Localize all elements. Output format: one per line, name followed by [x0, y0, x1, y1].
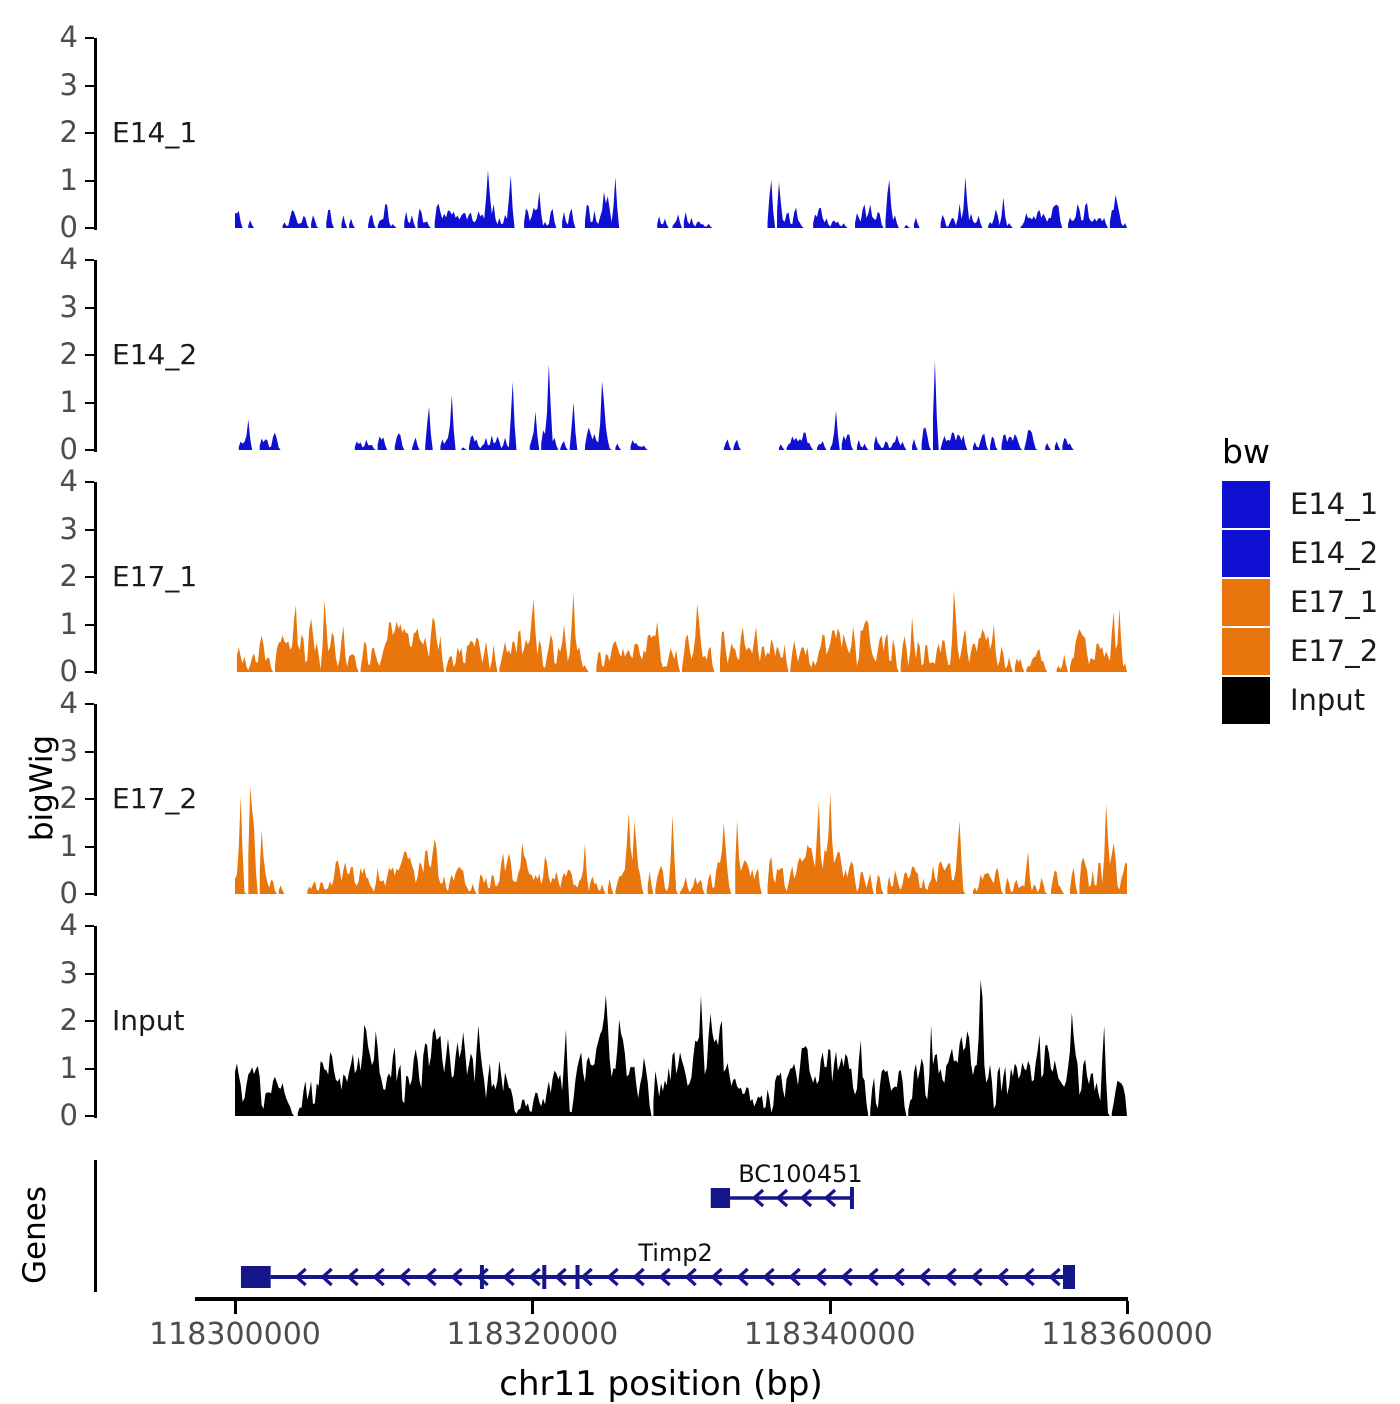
gene-model-timp2[interactable]	[241, 1265, 1075, 1289]
y-tick-label: 2	[28, 784, 78, 813]
y-tick	[85, 973, 94, 975]
coverage-area-input	[0, 0, 1400, 1400]
y-axis-line	[94, 38, 97, 230]
gene-model-bc100451[interactable]	[711, 1187, 852, 1209]
y-tick-label: 4	[28, 689, 78, 718]
y-tick-label: 4	[28, 245, 78, 274]
x-tick	[1126, 1301, 1129, 1314]
y-tick	[85, 703, 94, 705]
legend-label: E17_1	[1290, 585, 1378, 619]
coverage-area-e14_2	[0, 0, 1400, 1400]
y-tick	[85, 481, 94, 483]
y-tick	[85, 671, 94, 673]
y-tick-label: 3	[28, 959, 78, 988]
y-tick-label: 0	[28, 435, 78, 464]
y-tick-label: 3	[28, 737, 78, 766]
x-tick	[234, 1301, 237, 1314]
gene-label-bc100451: BC100451	[738, 1160, 862, 1188]
y-tick-label: 0	[28, 213, 78, 242]
y-tick	[85, 576, 94, 578]
y-tick-label: 0	[28, 879, 78, 908]
x-tick-label: 118320000	[402, 1317, 662, 1352]
legend-label: E14_1	[1290, 487, 1378, 521]
y-tick-label: 0	[28, 657, 78, 686]
track-label-e14_1: E14_1	[112, 116, 197, 149]
y-tick-label: 4	[28, 911, 78, 940]
y-tick	[85, 402, 94, 404]
y-tick	[85, 846, 94, 848]
track-label-e14_2: E14_2	[112, 338, 197, 371]
legend-title: bw	[1222, 432, 1270, 471]
track-label-e17_2: E17_2	[112, 782, 197, 815]
legend-label: Input	[1290, 683, 1365, 717]
y-tick	[85, 354, 94, 356]
x-tick-label: 118340000	[700, 1317, 960, 1352]
y-tick-label: 4	[28, 23, 78, 52]
y-tick-label: 2	[28, 118, 78, 147]
y-tick-label: 0	[28, 1101, 78, 1130]
y-tick	[85, 1115, 94, 1117]
y-tick	[85, 227, 94, 229]
y-tick-label: 3	[28, 515, 78, 544]
track-label-input: Input	[112, 1004, 185, 1037]
gene-label-timp2: Timp2	[638, 1239, 712, 1267]
coverage-area-e14_1	[0, 0, 1400, 1400]
y-tick-label: 3	[28, 71, 78, 100]
gene-models	[0, 0, 1400, 1400]
y-tick	[85, 132, 94, 134]
y-tick-label: 2	[28, 1006, 78, 1035]
x-tick	[829, 1301, 832, 1314]
x-tick-label: 118300000	[105, 1317, 365, 1352]
legend-label: E14_2	[1290, 536, 1378, 570]
y-tick	[85, 798, 94, 800]
y-tick	[85, 85, 94, 87]
y-axis-label-genes: Genes	[15, 1155, 55, 1315]
genes-axis-line	[94, 1160, 97, 1292]
y-tick-label: 1	[28, 1054, 78, 1083]
y-tick	[85, 925, 94, 927]
y-tick-label: 1	[28, 388, 78, 417]
legend-label: E17_2	[1290, 634, 1378, 668]
x-tick	[531, 1301, 534, 1314]
y-tick-label: 1	[28, 166, 78, 195]
y-tick	[85, 751, 94, 753]
y-tick	[85, 624, 94, 626]
y-tick-label: 3	[28, 293, 78, 322]
legend-swatch-e17_1	[1222, 579, 1270, 626]
y-tick-label: 1	[28, 610, 78, 639]
y-tick	[85, 893, 94, 895]
y-axis-line	[94, 260, 97, 452]
coverage-area-e17_1	[0, 0, 1400, 1400]
legend-swatch-e17_2	[1222, 628, 1270, 675]
legend-swatch-input	[1222, 677, 1270, 724]
y-axis-line	[94, 926, 97, 1118]
figure-canvas: bigWig Genes 01234E14_101234E14_201234E1…	[0, 0, 1400, 1400]
y-tick-label: 2	[28, 340, 78, 369]
legend-swatch-e14_2	[1222, 530, 1270, 577]
y-tick	[85, 259, 94, 261]
coverage-area-e17_2	[0, 0, 1400, 1400]
legend-swatch-e14_1	[1222, 481, 1270, 528]
y-tick	[85, 37, 94, 39]
x-axis-line	[195, 1297, 1128, 1301]
y-tick-label: 1	[28, 832, 78, 861]
y-axis-line	[94, 704, 97, 896]
y-tick	[85, 529, 94, 531]
y-tick-label: 2	[28, 562, 78, 591]
x-tick-label: 118360000	[997, 1317, 1257, 1352]
y-tick-label: 4	[28, 467, 78, 496]
y-axis-line	[94, 482, 97, 674]
y-tick	[85, 1020, 94, 1022]
y-tick	[85, 1068, 94, 1070]
x-axis-title: chr11 position (bp)	[331, 1364, 991, 1404]
y-tick	[85, 449, 94, 451]
y-tick	[85, 307, 94, 309]
y-tick	[85, 180, 94, 182]
track-label-e17_1: E17_1	[112, 560, 197, 593]
